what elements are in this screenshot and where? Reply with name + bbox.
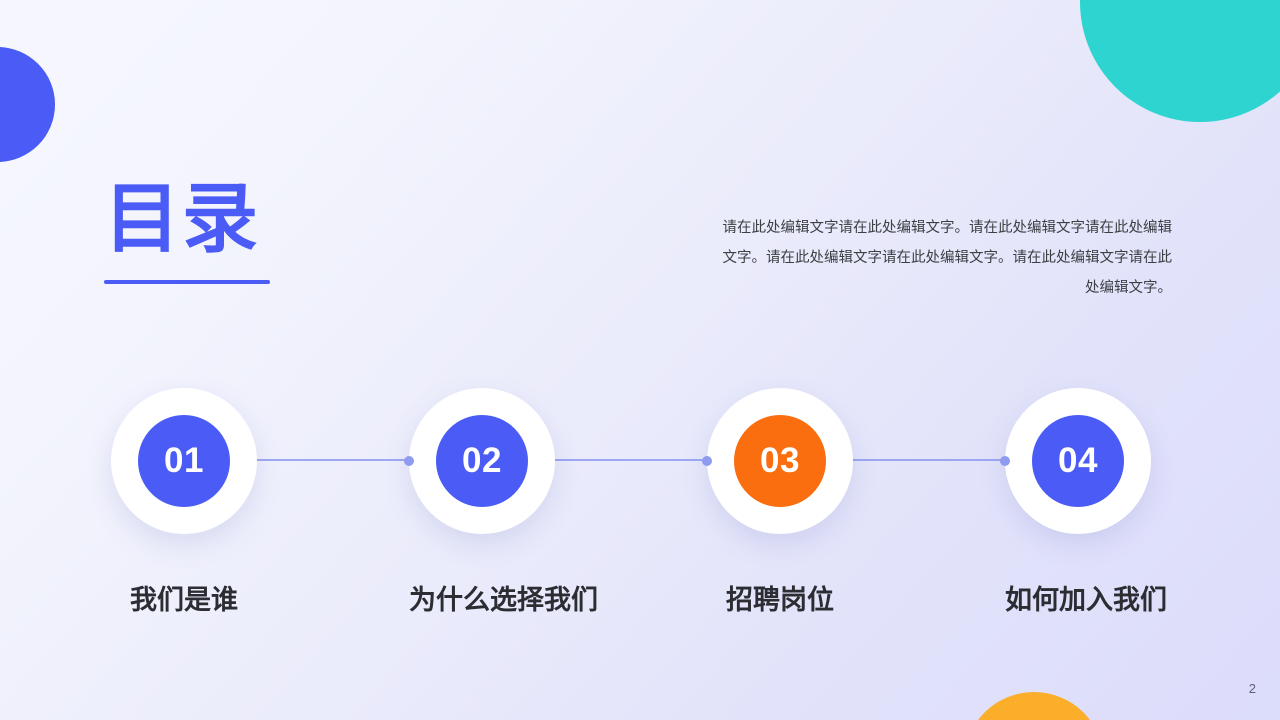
timeline: 01 我们是谁 02 为什么选择我们 03 招聘岗位 04 如何加入我们 (0, 388, 1280, 638)
timeline-label-03: 招聘岗位 (707, 578, 853, 617)
timeline-ring-01: 01 (111, 388, 257, 534)
connector-dot-04 (1000, 456, 1010, 466)
connector-line-2-3 (552, 459, 715, 461)
timeline-item-01[interactable]: 01 我们是谁 (111, 388, 257, 617)
title-underline (104, 280, 270, 284)
timeline-number-badge-03: 03 (734, 415, 826, 507)
connector-dot-03 (702, 456, 712, 466)
timeline-item-03[interactable]: 03 招聘岗位 (707, 388, 853, 617)
timeline-ring-02: 02 (409, 388, 555, 534)
timeline-number-badge-04: 04 (1032, 415, 1124, 507)
teal-circle-decoration (1080, 0, 1280, 122)
timeline-label-01: 我们是谁 (111, 578, 257, 617)
timeline-ring-04: 04 (1005, 388, 1151, 534)
page-number: 2 (1249, 681, 1256, 696)
timeline-item-02[interactable]: 02 为什么选择我们 (409, 388, 555, 617)
connector-line-3-4 (850, 459, 1013, 461)
slide-canvas: 目录 请在此处编辑文字请在此处编辑文字。请在此处编辑文字请在此处编辑文字。请在此… (0, 0, 1280, 720)
timeline-label-02: 为什么选择我们 (409, 578, 555, 617)
timeline-number-badge-01: 01 (138, 415, 230, 507)
blue-circle-decoration (0, 47, 55, 162)
connector-line-1-2 (255, 459, 418, 461)
page-title-block: 目录 (104, 182, 270, 284)
timeline-number-badge-02: 02 (436, 415, 528, 507)
intro-paragraph: 请在此处编辑文字请在此处编辑文字。请在此处编辑文字请在此处编辑文字。请在此处编辑… (720, 213, 1172, 303)
timeline-ring-03: 03 (707, 388, 853, 534)
yellow-circle-decoration (964, 692, 1104, 720)
page-title: 目录 (104, 182, 270, 258)
timeline-item-04[interactable]: 04 如何加入我们 (1005, 388, 1151, 617)
connector-dot-02 (404, 456, 414, 466)
timeline-label-04: 如何加入我们 (1005, 578, 1151, 617)
